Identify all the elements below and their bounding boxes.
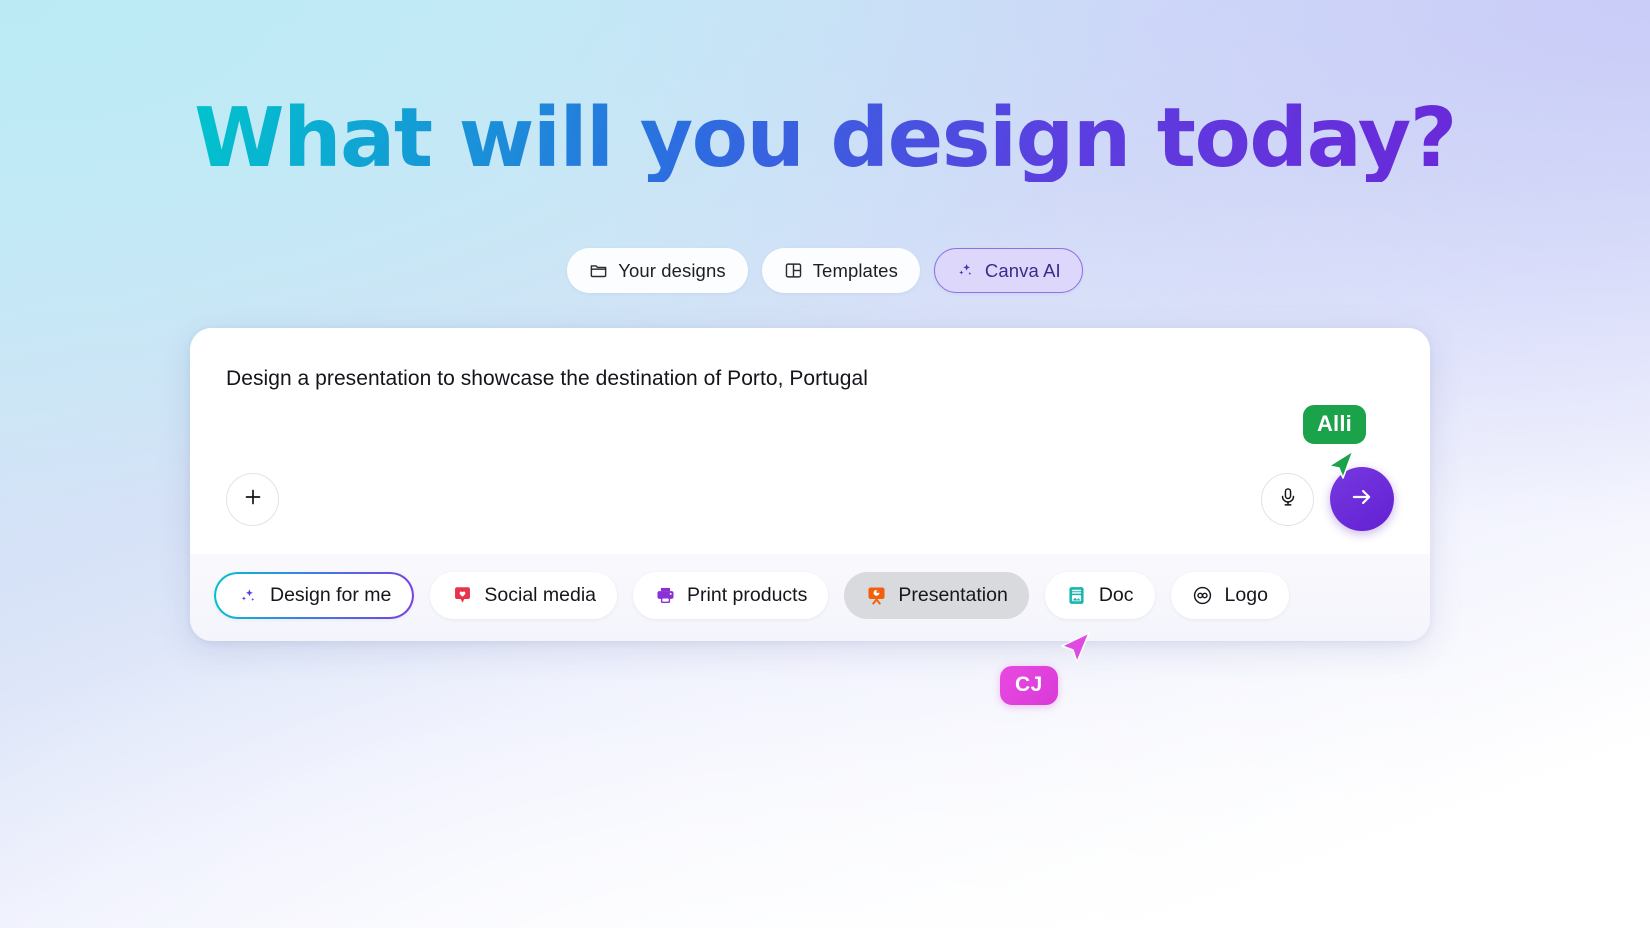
sparkle-icon xyxy=(956,261,975,280)
plus-icon xyxy=(241,485,265,514)
chip-label-design-for-me: Design for me xyxy=(270,586,391,606)
microphone-icon xyxy=(1277,486,1299,513)
tab-label-canva-ai: Canva AI xyxy=(985,260,1061,282)
chip-print-products[interactable]: Print products xyxy=(633,572,828,619)
presentation-icon xyxy=(865,585,887,607)
voice-input-button[interactable] xyxy=(1261,473,1314,526)
chip-label-print-products: Print products xyxy=(687,586,807,606)
prompt-input-area[interactable]: Design a presentation to showcase the de… xyxy=(190,328,1430,554)
folder-icon xyxy=(589,261,608,280)
collaborator-badge-alli: Alli xyxy=(1303,405,1366,444)
tab-label-templates: Templates xyxy=(813,260,898,282)
document-icon xyxy=(1066,585,1088,607)
templates-icon xyxy=(784,261,803,280)
chip-logo[interactable]: Logo xyxy=(1171,572,1289,619)
send-button[interactable] xyxy=(1330,467,1394,531)
chip-label-presentation: Presentation xyxy=(898,586,1008,606)
sparkle-icon xyxy=(237,585,259,607)
chip-doc[interactable]: Doc xyxy=(1045,572,1155,619)
chip-design-for-me[interactable]: Design for me xyxy=(214,572,414,619)
tab-label-your-designs: Your designs xyxy=(618,260,726,282)
heart-bubble-icon xyxy=(451,585,473,607)
page-heading-wrap: What will you design today? xyxy=(0,96,1650,182)
chip-label-social-media: Social media xyxy=(484,586,596,606)
composer-action-bar: Alli xyxy=(190,444,1430,554)
chip-social-media[interactable]: Social media xyxy=(430,572,617,619)
design-type-chip-row: Design for me Social media xyxy=(190,554,1430,641)
prompt-composer-card: Design a presentation to showcase the de… xyxy=(190,328,1430,641)
composer-right-actions: Alli xyxy=(1261,467,1394,531)
arrow-right-icon xyxy=(1349,484,1375,515)
tab-canva-ai[interactable]: Canva AI xyxy=(934,248,1083,293)
collaborator-cursor-cj: CJ xyxy=(1000,630,1120,710)
top-tab-bar: Your designs Templates Canva AI xyxy=(0,248,1650,293)
logo-circle-icon xyxy=(1192,585,1214,607)
chip-label-logo: Logo xyxy=(1225,586,1268,606)
tab-templates[interactable]: Templates xyxy=(762,248,920,293)
chip-label-doc: Doc xyxy=(1099,586,1134,606)
prompt-input[interactable]: Design a presentation to showcase the de… xyxy=(226,364,1394,393)
chip-presentation[interactable]: Presentation xyxy=(844,572,1029,619)
collaborator-badge-cj: CJ xyxy=(1000,666,1058,705)
tab-your-designs[interactable]: Your designs xyxy=(567,248,748,293)
printer-icon xyxy=(654,585,676,607)
add-attachment-button[interactable] xyxy=(226,473,279,526)
canva-home-page: What will you design today? Your designs… xyxy=(0,0,1650,928)
page-title: What will you design today? xyxy=(194,96,1456,182)
